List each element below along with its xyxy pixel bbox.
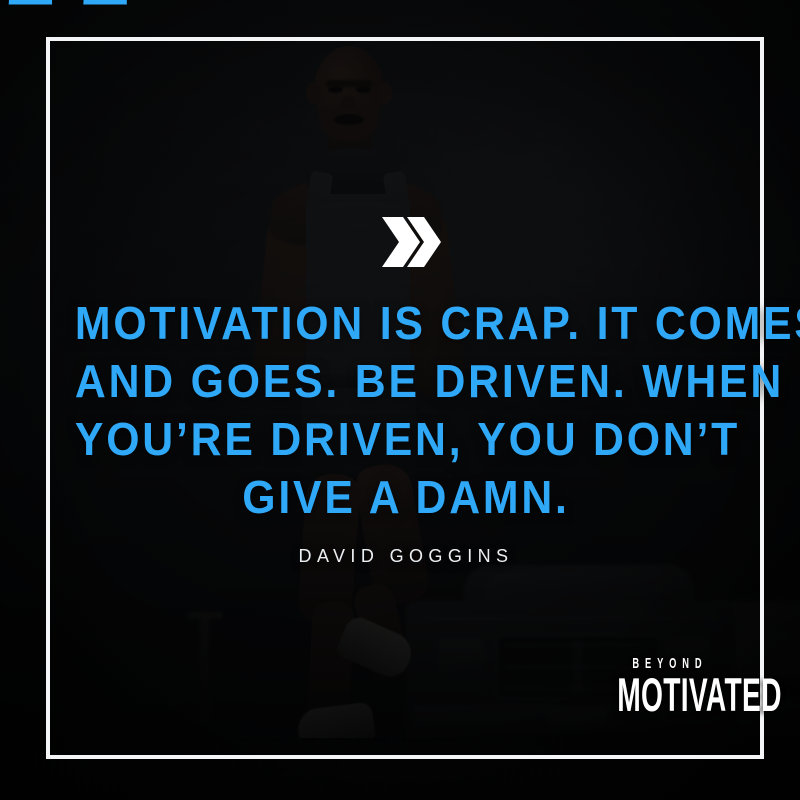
- quote-poster: “ MOTIVATION IS CRAP. IT COMES AND GOES.…: [0, 0, 800, 800]
- quote-line-1: MOTIVATION IS CRAP. IT COMES: [75, 294, 737, 352]
- quote-attribution: DAVID GOGGINS: [50, 546, 762, 567]
- brand-logo-bottom-word: MOTIVATED: [617, 674, 717, 716]
- quote-line-4: GIVE A DAMN.: [75, 468, 737, 526]
- brand-logo: BEYOND MOTIVATED: [584, 655, 750, 716]
- opening-quote-mark-icon: “: [0, 0, 196, 114]
- quote-line-2: AND GOES. BE DRIVEN. WHEN: [75, 352, 737, 410]
- double-chevron-right-icon: [379, 215, 441, 269]
- quote-line-3: YOU’RE DRIVEN, YOU DON’T: [75, 410, 737, 468]
- quote-text: MOTIVATION IS CRAP. IT COMES AND GOES. B…: [75, 294, 737, 526]
